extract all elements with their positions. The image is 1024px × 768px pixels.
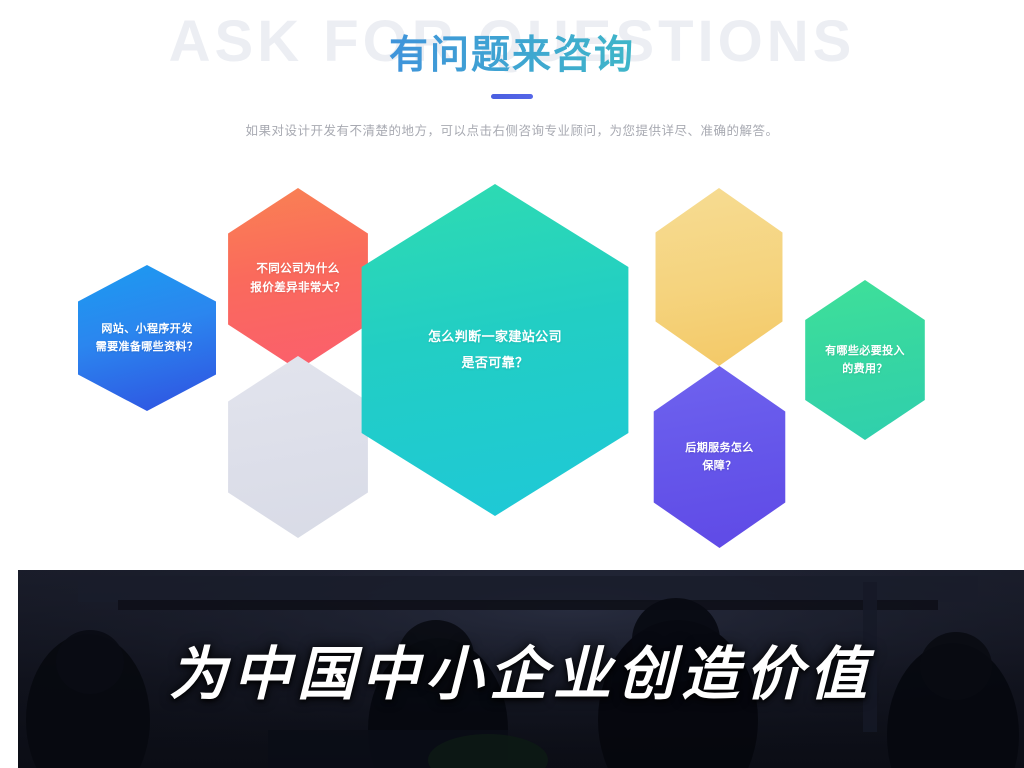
- section-header: ASK FOR QUESTIONS 有问题来咨询 如果对设计开发有不清楚的地方，…: [0, 0, 1024, 160]
- page-title: 有问题来咨询: [0, 24, 1024, 80]
- title-divider: [491, 94, 533, 99]
- hexagon-decorative-gray: [222, 356, 374, 538]
- banner-slogan: 为中国中小企业创造价值: [18, 570, 1024, 768]
- hexagon-label: 怎么判断一家建站公司 是否可靠？: [418, 324, 572, 376]
- hexagon-website-materials[interactable]: 网站、小程序开发 需要准备哪些资料？: [72, 265, 222, 411]
- page-subtitle: 如果对设计开发有不清楚的地方，可以点击右侧咨询专业顾问，为您提供详尽、准确的解答…: [0, 120, 1024, 139]
- hexagon-grid: 网站、小程序开发 需要准备哪些资料？ 不同公司为什么 报价差异非常大？ 怎么判断…: [0, 160, 1024, 560]
- hexagon-price-difference[interactable]: 不同公司为什么 报价差异非常大？: [222, 188, 374, 370]
- hexagon-label: 有哪些必要投入 的费用？: [815, 342, 915, 378]
- hexagon-necessary-costs[interactable]: 有哪些必要投入 的费用？: [800, 280, 930, 440]
- hexagon-judge-reliable-company[interactable]: 怎么判断一家建站公司 是否可靠？: [350, 184, 640, 516]
- page-root: ASK FOR QUESTIONS 有问题来咨询 如果对设计开发有不清楚的地方，…: [0, 0, 1024, 768]
- hexagon-label: 后期服务怎么 保障？: [675, 439, 763, 475]
- hexagon-label: 网站、小程序开发 需要准备哪些资料？: [86, 320, 209, 356]
- hexagon-label: 不同公司为什么 报价差异非常大？: [240, 260, 355, 298]
- hexagon-after-sales-service[interactable]: 后期服务怎么 保障？: [648, 366, 791, 548]
- hexagon-decorative-yellow: [650, 188, 788, 366]
- bottom-banner: 为中国中小企业创造价值: [18, 570, 1024, 768]
